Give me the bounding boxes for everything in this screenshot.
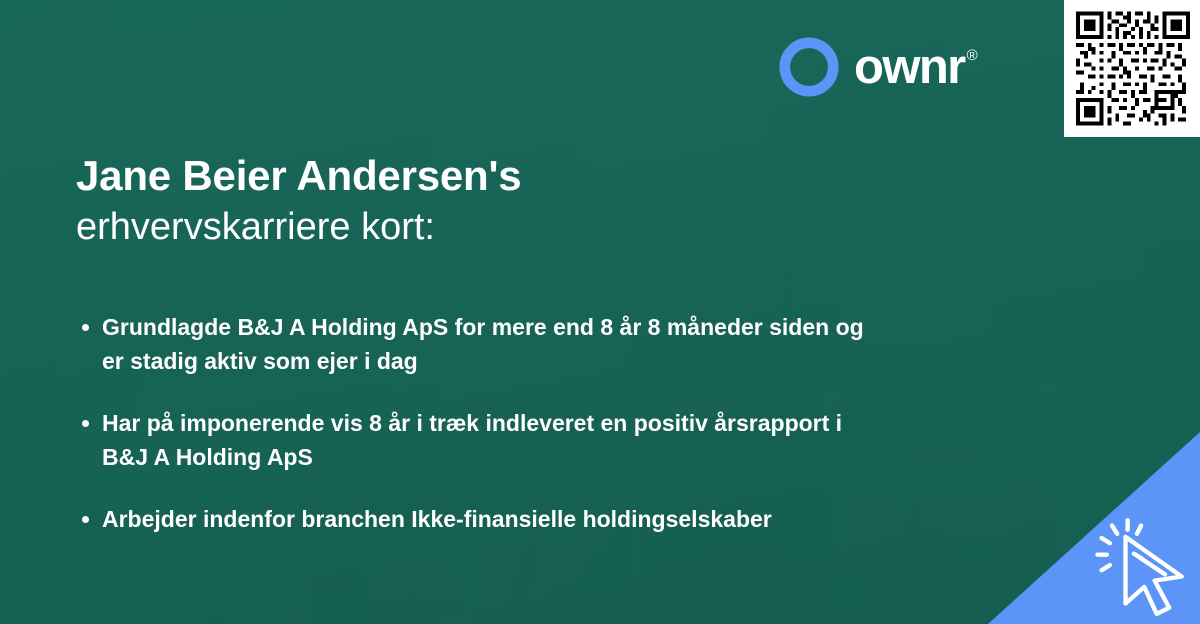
ownr-circle-logo-icon: [778, 36, 840, 98]
title-person-name: Jane Beier Andersen's: [76, 152, 796, 199]
ownr-wordmark-text: ownr: [854, 43, 965, 92]
page-title: Jane Beier Andersen's erhvervskarriere k…: [76, 152, 796, 250]
bullet-dot-icon: [82, 420, 89, 427]
ownr-wordmark: ownr ®: [854, 43, 978, 92]
list-item-text: Har på imponerende vis 8 år i træk indle…: [102, 410, 842, 470]
registered-trademark-icon: ®: [967, 48, 978, 63]
list-item: Arbejder indenfor branchen Ikke-finansie…: [76, 502, 876, 536]
career-highlights-list: Grundlagde B&J A Holding ApS for mere en…: [76, 310, 956, 536]
list-item-text: Arbejder indenfor branchen Ikke-finansie…: [102, 506, 772, 532]
bullet-dot-icon: [82, 516, 89, 523]
title-subtitle: erhvervskarriere kort:: [76, 205, 796, 250]
qr-code: [1076, 10, 1190, 127]
click-cursor-icon: [1086, 512, 1190, 616]
list-item: Har på imponerende vis 8 år i træk indle…: [76, 406, 876, 474]
card-content: ownr ®: [0, 0, 1200, 624]
bullet-dot-icon: [82, 324, 89, 331]
qr-code-panel[interactable]: [1064, 0, 1200, 137]
ownr-logo[interactable]: ownr ®: [778, 36, 978, 98]
list-item: Grundlagde B&J A Holding ApS for mere en…: [76, 310, 876, 378]
list-item-text: Grundlagde B&J A Holding ApS for mere en…: [102, 314, 864, 374]
career-card: ownr ®: [0, 0, 1200, 624]
